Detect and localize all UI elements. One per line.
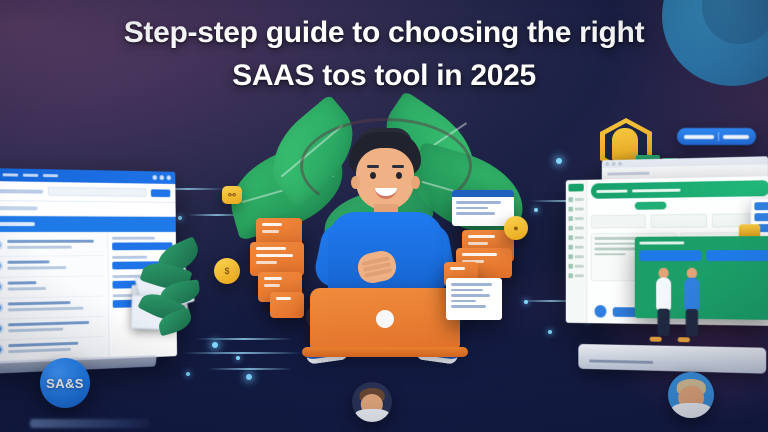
list-item[interactable] [0,276,104,299]
orange-card[interactable] [250,242,304,276]
network-node [548,330,552,334]
user-avatar-icon [0,282,3,292]
top-right-action-button[interactable] [677,128,756,145]
orange-card[interactable] [270,292,304,318]
user-avatar-icon [0,323,3,333]
laptop-base [302,347,468,357]
user-avatar-icon [0,261,3,271]
laptop-logo-icon [376,310,394,328]
eyebrow-left [367,165,379,168]
titlebar-icons[interactable] [153,175,171,180]
stat-card[interactable] [591,214,646,228]
panel-heading [639,241,684,244]
person-white-coat [651,268,675,340]
search-input[interactable] [48,187,147,197]
brand-caption [30,419,150,428]
network-node [534,208,538,212]
list-item[interactable] [0,236,103,257]
list-container[interactable] [0,232,109,364]
nav-links[interactable] [3,173,149,179]
seated-person-with-laptop [300,132,470,368]
toolbar-title [0,189,43,194]
device-tray [578,344,766,374]
stat-card[interactable] [651,214,708,228]
sidebar-item[interactable] [568,235,583,240]
network-node [556,158,562,164]
button-label-left [684,135,714,139]
page-title: Step-step guide to choosing the right SA… [0,12,768,97]
sidebar-item[interactable] [568,254,583,259]
user-avatar-icon [0,303,3,313]
white-card[interactable] [446,278,502,320]
panel-buttons[interactable] [639,250,768,261]
hero-pill-button[interactable] [635,202,667,210]
network-node [178,216,182,220]
ear-right [411,176,420,189]
left-toolbar[interactable] [0,181,176,203]
orange-laptop[interactable] [310,288,460,350]
sidebar-item[interactable] [568,207,583,212]
headline-line-2: SAAS tos tool in 2025 [40,55,728,98]
list-item[interactable] [0,256,103,278]
network-node [186,372,190,376]
button-label-right [723,135,749,139]
user-avatar-icon [0,344,4,354]
brand-logo-icon [568,184,583,192]
face [356,148,414,210]
user-avatar-icon [0,240,2,250]
avatar-right[interactable] [668,372,714,418]
section-header-bar [0,216,176,232]
network-node [524,300,528,304]
potted-plant [138,238,208,358]
network-node [212,342,218,348]
floating-action-button[interactable] [595,305,607,318]
sidebar-item[interactable] [568,226,583,231]
avatar-shirt [355,409,389,422]
eye-right [396,172,402,179]
headline-line-1: Step-step guide to choosing the right [124,16,645,49]
filter-row[interactable] [0,201,176,217]
right-dashboard-mockup[interactable] [566,170,768,352]
primary-button[interactable] [151,189,170,197]
hero-banner [591,180,768,199]
white-card[interactable] [452,190,514,226]
gold-money-icon: $ [214,258,240,284]
avatar-shirt [672,403,711,418]
brand-badge-text: SA&S [46,376,84,391]
sidebar-item[interactable] [568,216,583,221]
network-node [236,356,240,360]
poster-canvas: ⚯ $ ● [0,0,768,432]
network-node [246,374,252,380]
hexagon-figure-icon [612,128,638,162]
filter-label [0,206,38,210]
sidebar-item[interactable] [568,245,583,250]
sidebar-item[interactable] [568,197,583,202]
card-header [452,190,514,197]
ear-left [351,176,360,189]
eyebrow-right [392,165,404,168]
gold-share-icon: ⚯ [222,186,242,204]
saas-brand-badge[interactable]: SA&S [40,358,90,408]
sidebar-item[interactable] [568,273,583,278]
gold-coin-icon: ● [504,216,528,240]
eye-left [370,172,376,179]
avatar-center[interactable] [352,382,392,422]
right-sidebar[interactable] [566,180,588,323]
light-streak [208,368,292,370]
sidebar-item[interactable] [568,264,583,269]
person-blue-shirt [680,268,705,341]
divider [718,132,719,141]
